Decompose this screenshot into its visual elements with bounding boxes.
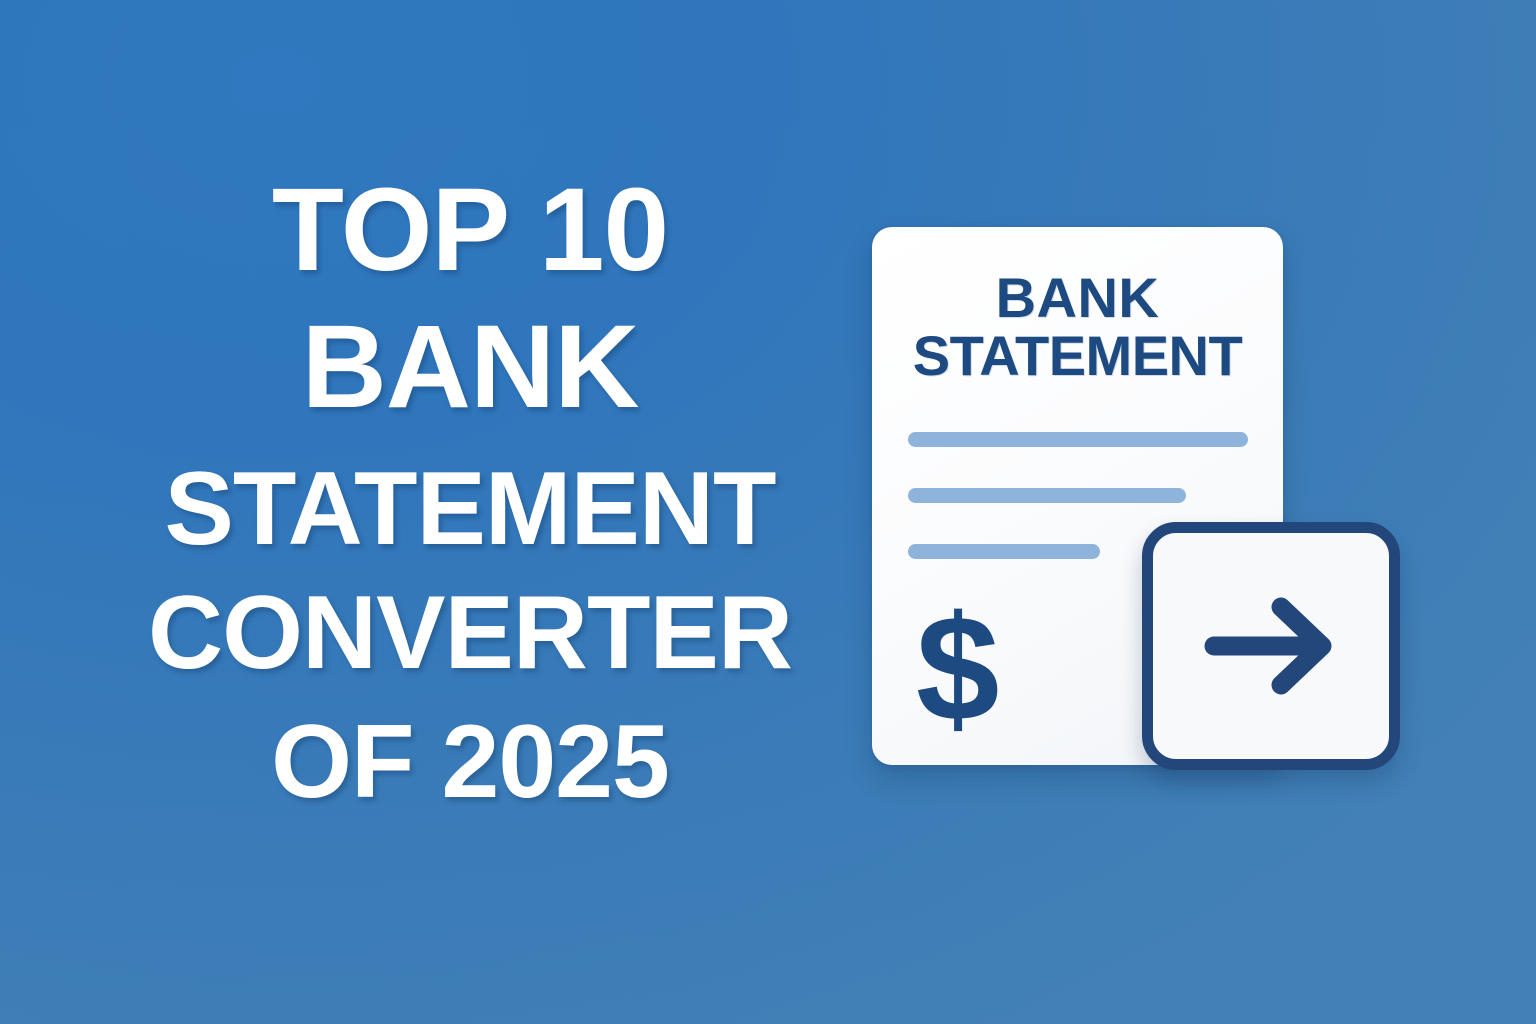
headline-line-5: OF 2025 [90,707,850,817]
document-text-line [908,544,1100,559]
poster-canvas: TOP 10 BANK STATEMENT CONVERTER OF 2025 … [0,0,1536,1024]
document-title-line-2: STATEMENT [872,327,1283,385]
headline-line-4: CONVERTER [90,578,850,688]
document-title: BANK STATEMENT [872,269,1283,385]
document-title-line-1: BANK [872,269,1283,327]
document-text-line [908,432,1248,447]
headline-line-2: BANK [90,305,850,430]
arrow-right-icon [1196,591,1346,701]
headline-line-1: TOP 10 [90,168,850,293]
convert-arrow-button[interactable] [1142,522,1400,770]
dollar-sign-icon: $ [916,610,997,727]
headline-line-3: STATEMENT [90,454,850,564]
page-title: TOP 10 BANK STATEMENT CONVERTER OF 2025 [90,168,850,817]
document-text-line [908,488,1186,503]
